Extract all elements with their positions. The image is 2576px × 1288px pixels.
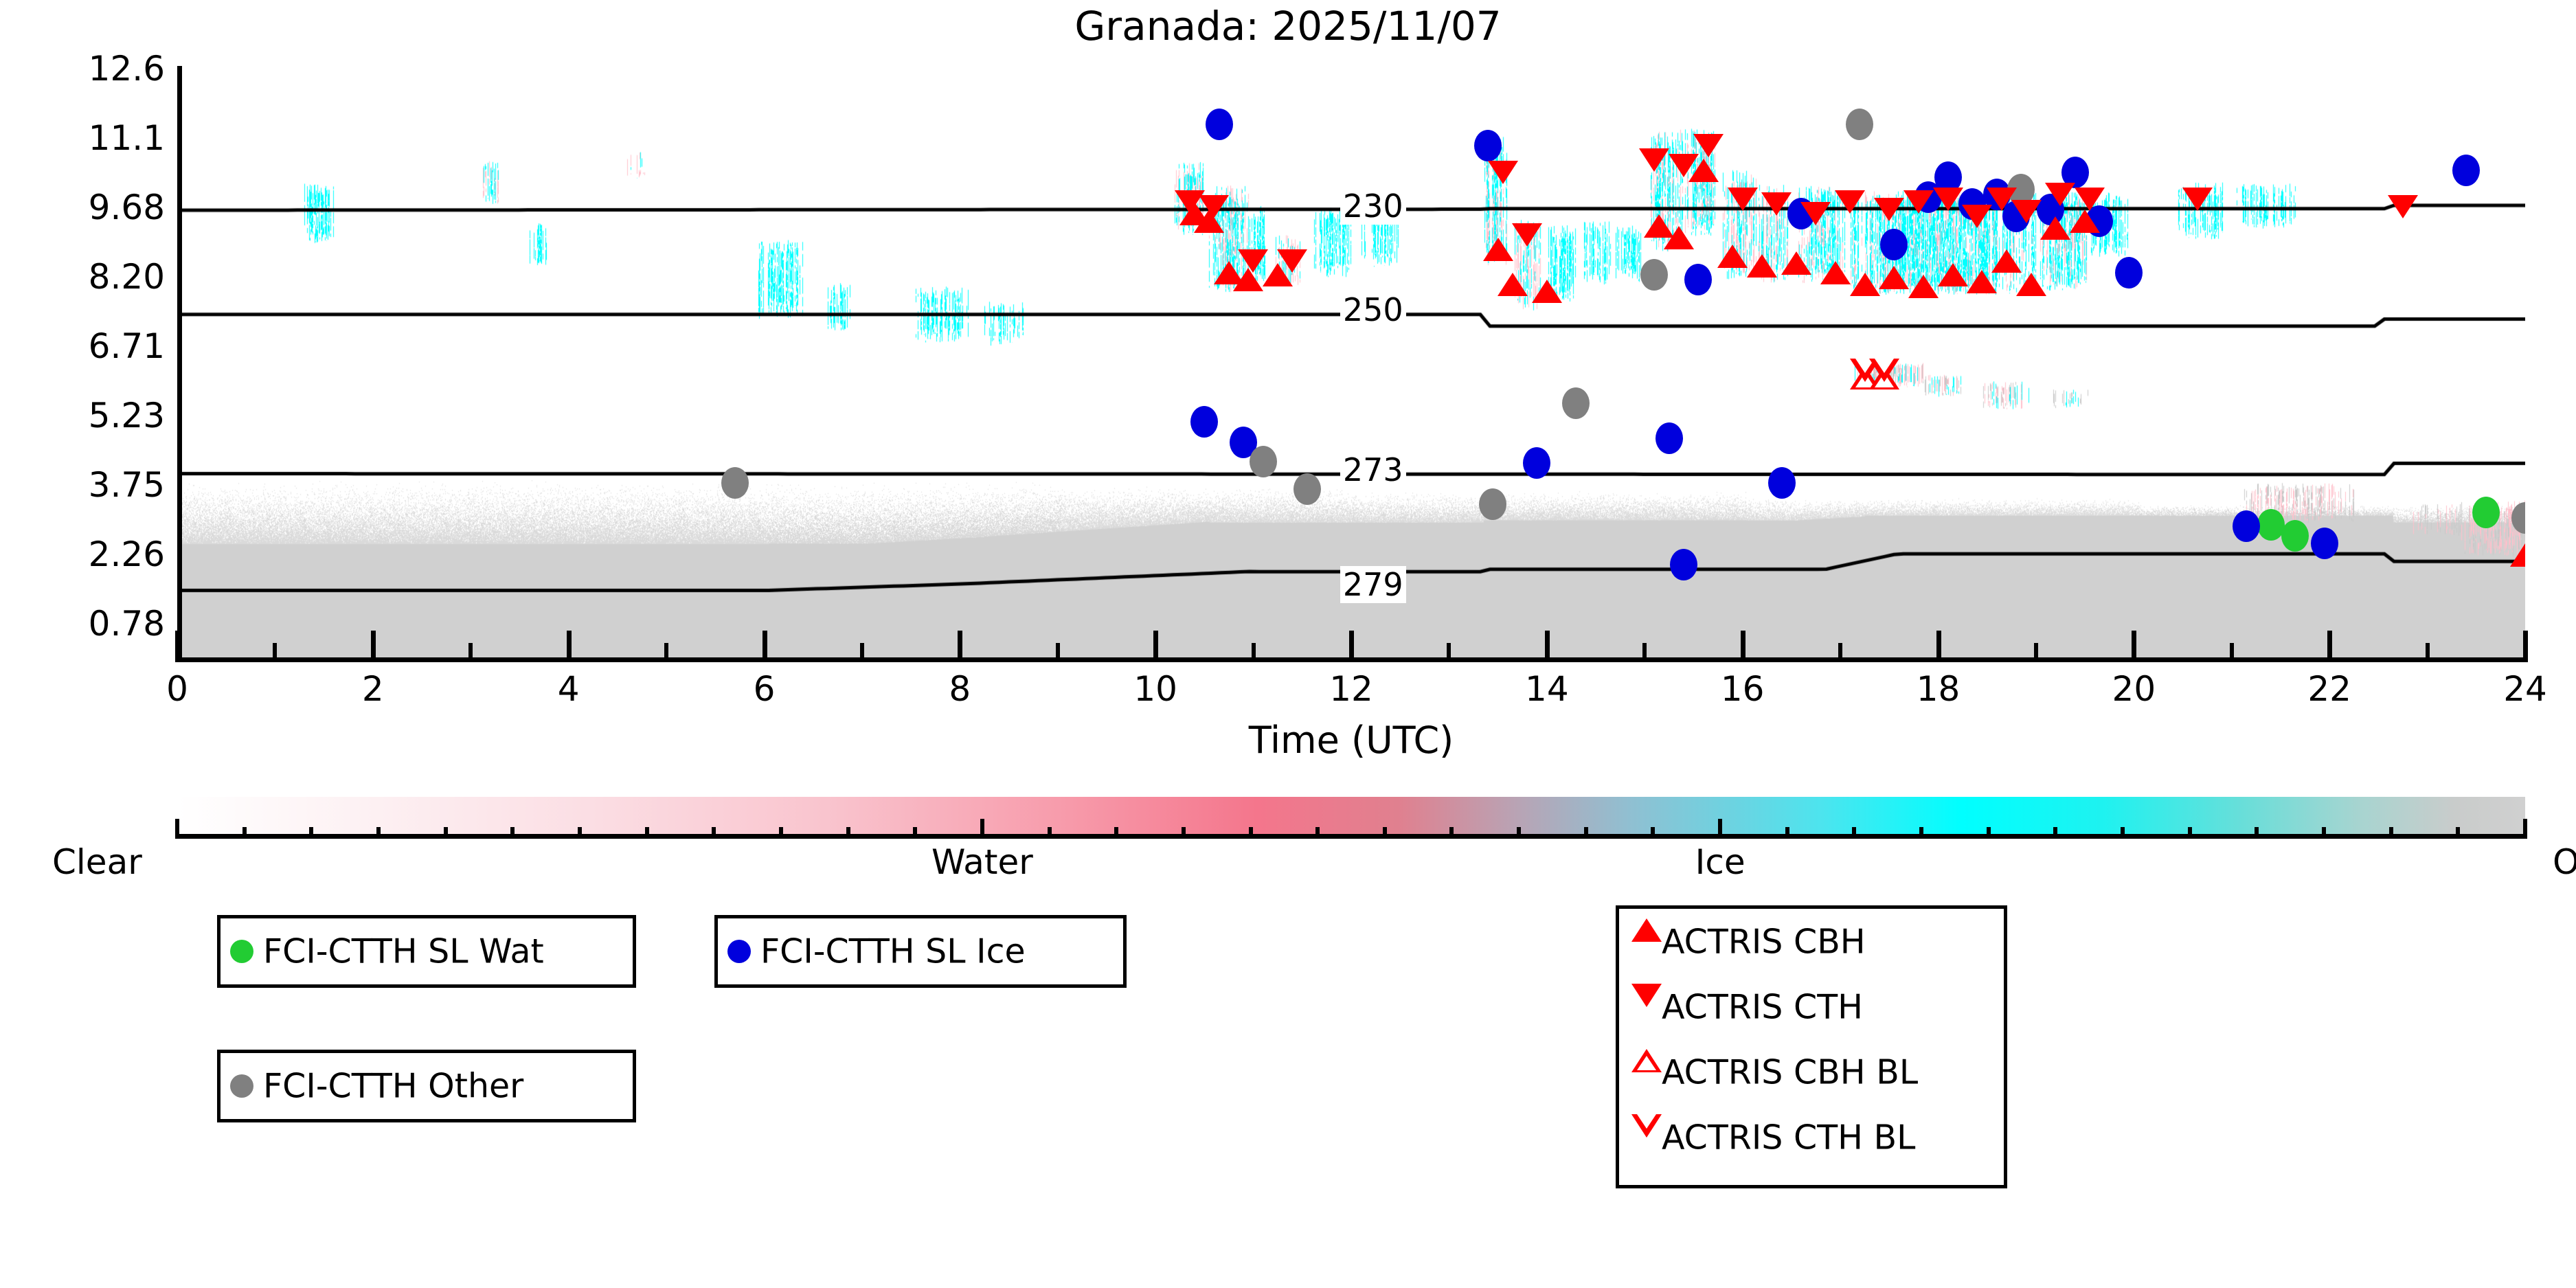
actris-cbh-point [1879, 266, 1909, 289]
colorbar-minor-tick [2255, 827, 2259, 839]
x-minor-tick-mark [468, 643, 473, 662]
actris-cth-point [1512, 223, 1542, 247]
red-triangle-down-filled-icon [1631, 984, 1662, 1007]
actris-cbh-point [2040, 216, 2070, 240]
sl-ice-point [2115, 257, 2143, 289]
y-tick-label: 12.6 [0, 49, 165, 89]
colorbar-minor-tick [913, 827, 917, 839]
y-tick-label: 2.26 [0, 534, 165, 574]
sl-wat-point [2257, 509, 2285, 541]
x-tick-mark [2132, 631, 2136, 662]
x-tick-mark [762, 631, 767, 662]
other-point [1479, 488, 1506, 520]
sl-ice-point [1880, 229, 1908, 260]
legend-row-actris-cbh[interactable]: ACTRIS CBH [1619, 909, 2004, 974]
gray-circle-marker-icon [230, 1074, 253, 1098]
colorbar-minor-tick [1315, 827, 1320, 839]
actris-cth-point [1835, 190, 1865, 214]
x-minor-tick-mark [1447, 643, 1451, 662]
y-tick-label: 6.71 [0, 326, 165, 366]
legend-label-actris-cbh-bl: ACTRIS CBH BL [1662, 1052, 1918, 1092]
legend-fci-ctth-sl-ice[interactable]: FCI-CTTH SL Ice [714, 915, 1127, 988]
colorbar-minor-tick [2389, 827, 2393, 839]
colorbar-minor-tick [1651, 827, 1655, 839]
sl-wat-point [2472, 497, 2500, 528]
y-tick-label: 11.1 [0, 118, 165, 158]
green-circle-marker-icon [230, 940, 253, 963]
sl-ice-point [1656, 422, 1683, 454]
x-axis-label: Time (UTC) [177, 719, 2525, 762]
blue-circle-marker-icon [727, 940, 751, 963]
actris-cth-point [2011, 200, 2042, 223]
other-point [1293, 473, 1321, 505]
colorbar-minor-tick [712, 827, 716, 839]
colorbar-major-tick [175, 819, 179, 839]
actris-cth-point [1728, 188, 1758, 211]
legend-row-actris-cth-bl[interactable]: ACTRIS CTH BL [1619, 1105, 2004, 1170]
colorbar-minor-tick [444, 827, 448, 839]
x-minor-tick-mark [664, 643, 668, 662]
x-tick-label: 12 [1283, 669, 1420, 709]
x-tick-label: 22 [2261, 669, 2398, 709]
colorbar-minor-tick [2053, 827, 2057, 839]
x-tick-label: 16 [1674, 669, 1811, 709]
actris-cth-point [1903, 190, 1934, 214]
x-tick-label: 0 [109, 669, 246, 709]
colorbar-minor-tick [1919, 827, 1923, 839]
x-minor-tick-mark [2034, 643, 2038, 662]
isotherm-label: 273 [1340, 451, 1406, 488]
sl-ice-point [2311, 528, 2338, 559]
x-tick-mark [1349, 631, 1354, 662]
x-tick-mark [567, 631, 572, 662]
actris-cbh-point [1850, 273, 1880, 296]
actris-cth-point [2075, 188, 2105, 211]
legend-label-actris-cbh: ACTRIS CBH [1662, 922, 1866, 961]
colorbar-minor-tick [1449, 827, 1454, 839]
y-tick-label: 3.75 [0, 465, 165, 505]
isotherm-label: 279 [1340, 566, 1406, 603]
actris-cth-point [1488, 161, 1518, 184]
actris-cbh-point [1532, 280, 1562, 303]
colorbar-minor-tick [1987, 827, 1991, 839]
colorbar-major-tick [1718, 819, 1722, 839]
colorbar-label: Ice [1583, 842, 1857, 882]
legend-label-sl-wat: FCI-CTTH SL Wat [263, 932, 544, 971]
colorbar-minor-tick [1182, 827, 1186, 839]
colorbar-minor-tick [2456, 827, 2460, 839]
actris-cbh-point [1991, 249, 2022, 273]
actris-cth-point [1693, 134, 1724, 157]
x-tick-mark [371, 631, 376, 662]
colorbar-major-tick [2523, 819, 2527, 839]
sl-ice-point [1768, 467, 1796, 499]
actris-cbh-point [1908, 275, 1939, 298]
other-point [1250, 446, 1277, 477]
legend-actris[interactable]: ACTRIS CBH ACTRIS CTH ACTRIS CBH BL ACTR… [1616, 905, 2007, 1188]
page-title: Granada: 2025/11/07 [0, 3, 2576, 49]
x-tick-mark [2327, 631, 2332, 662]
colorbar-minor-tick [1383, 827, 1387, 839]
x-tick-label: 2 [304, 669, 442, 709]
legend-label-sl-ice: FCI-CTTH SL Ice [760, 932, 1026, 971]
y-tick-label: 5.23 [0, 396, 165, 436]
red-triangle-up-filled-icon [1631, 918, 1662, 942]
colorbar-axis [177, 834, 2525, 839]
colorbar-minor-tick [779, 827, 783, 839]
x-minor-tick-mark [1838, 643, 1842, 662]
actris-cth-point [1238, 249, 1268, 273]
actris-cth-point [2182, 188, 2213, 211]
actris-cth-point [1874, 198, 1904, 221]
actris-cth-point [1761, 192, 1792, 216]
colorbar-minor-tick [578, 827, 582, 839]
colorbar-minor-tick [1249, 827, 1253, 839]
colorbar-minor-tick [2188, 827, 2192, 839]
legend-row-actris-cth[interactable]: ACTRIS CTH [1619, 974, 2004, 1039]
legend-label-other: FCI-CTTH Other [263, 1067, 523, 1106]
x-tick-label: 24 [2456, 669, 2576, 709]
sl-ice-point [1206, 109, 1233, 140]
actris-cbh-point [1498, 273, 1528, 296]
colorbar-minor-tick [376, 827, 381, 839]
colorbar-major-tick [980, 819, 984, 839]
x-tick-label: 8 [891, 669, 1028, 709]
isotherm-label: 230 [1340, 188, 1406, 225]
legend-label-actris-cth: ACTRIS CTH [1662, 987, 1863, 1026]
actris-cbh-point [1938, 263, 1968, 286]
actris-cth-point [1933, 188, 1963, 211]
colorbar-label: Water [845, 842, 1120, 882]
colorbar-minor-tick [846, 827, 850, 839]
x-tick-mark [1153, 631, 1158, 662]
x-tick-label: 14 [1478, 669, 1616, 709]
actris-cbh-point [1820, 261, 1851, 284]
legend-label-actris-cth-bl: ACTRIS CTH BL [1662, 1118, 1915, 1157]
sl-wat-point [2281, 520, 2309, 552]
actris-cth-point [2388, 195, 2418, 218]
colorbar-minor-tick [309, 827, 313, 839]
legend-fci-ctth-sl-wat[interactable]: FCI-CTTH SL Wat [217, 915, 636, 988]
x-minor-tick-mark [860, 643, 864, 662]
colorbar-minor-tick [510, 827, 515, 839]
actris-cbh-point [2510, 543, 2525, 567]
actris-cbh-point [1717, 245, 1748, 268]
red-triangle-up-open-icon [1631, 1049, 1662, 1072]
x-minor-tick-mark [273, 643, 277, 662]
x-minor-tick-mark [1252, 643, 1256, 662]
actris-cbh-point [1967, 270, 1997, 293]
sl-ice-point [2452, 155, 2480, 186]
y-tick-label: 0.78 [0, 604, 165, 644]
x-tick-mark [1741, 631, 1745, 662]
x-minor-tick-mark [1642, 643, 1647, 662]
actris-cbh-point [1483, 238, 1513, 261]
isotherm-label: 250 [1340, 291, 1406, 328]
actris-cbh-point [2016, 273, 2046, 296]
x-tick-mark [958, 631, 962, 662]
colorbar-minor-tick [242, 827, 247, 839]
x-tick-mark [2523, 631, 2528, 662]
actris-cth-point [1800, 202, 1831, 225]
actris-cbh-point [2070, 210, 2100, 233]
x-tick-label: 6 [696, 669, 833, 709]
colorbar-label: Other [2375, 842, 2576, 882]
x-tick-label: 10 [1087, 669, 1224, 709]
colorbar-minor-tick [1852, 827, 1856, 839]
colorbar-label: Clear [52, 842, 327, 882]
colorbar-minor-tick [1517, 827, 1521, 839]
x-minor-tick-mark [2426, 643, 2430, 662]
x-tick-label: 18 [1870, 669, 2007, 709]
x-tick-mark [175, 631, 180, 662]
red-triangle-down-open-icon [1631, 1114, 1662, 1138]
actris-cbh-point [1747, 254, 1777, 278]
legend-row-actris-cbh-bl[interactable]: ACTRIS CBH BL [1619, 1039, 2004, 1105]
actris-cth-point [1639, 148, 1669, 172]
colorbar-minor-tick [1584, 827, 1588, 839]
x-tick-label: 4 [500, 669, 637, 709]
colorbar-minor-tick [2322, 827, 2326, 839]
colorbar-minor-tick [1114, 827, 1118, 839]
actris-cbh-point [1781, 251, 1811, 275]
colorbar-minor-tick [1048, 827, 1052, 839]
actris-cth-point [1199, 195, 1229, 218]
sl-ice-point [2233, 510, 2260, 542]
sl-ice-point [1670, 549, 1697, 580]
actris-cth-point [1277, 249, 1307, 273]
other-point [721, 467, 749, 499]
actris-cth-bl-point [1869, 359, 1899, 382]
y-tick-label: 8.20 [0, 257, 165, 297]
actris-cth-point [2045, 183, 2075, 206]
x-minor-tick-mark [1056, 643, 1060, 662]
colorbar-minor-tick [2121, 827, 2125, 839]
y-tick-label: 9.68 [0, 188, 165, 227]
actris-cbh-point [1664, 226, 1694, 249]
x-tick-label: 20 [2065, 669, 2202, 709]
x-tick-mark [1936, 631, 1941, 662]
legend-fci-ctth-other[interactable]: FCI-CTTH Other [217, 1050, 636, 1122]
colorbar-gradient [177, 797, 2525, 834]
x-minor-tick-mark [2230, 643, 2234, 662]
colorbar-minor-tick [645, 827, 649, 839]
colorbar-minor-tick [1785, 827, 1789, 839]
x-tick-mark [1545, 631, 1550, 662]
